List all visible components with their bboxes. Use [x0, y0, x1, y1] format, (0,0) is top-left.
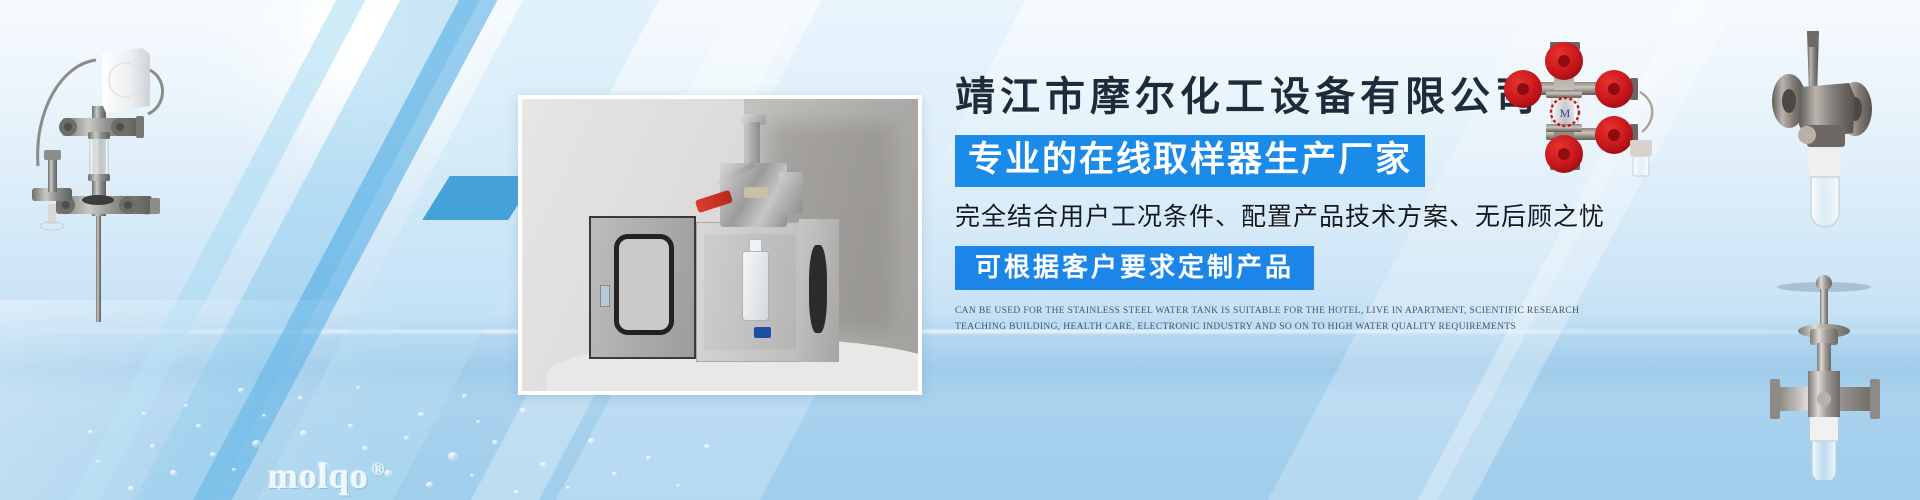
promotional-banner: 靖江市摩尔化工设备有限公司 专业的在线取样器生产厂家 完全结合用户工况条件、配置… [0, 0, 1920, 500]
photo-door-lock [600, 285, 610, 307]
red-handwheel-valve-icon: M [1490, 28, 1680, 178]
photo-door-window [614, 234, 674, 334]
water-droplet [588, 438, 595, 444]
water-droplet [252, 440, 261, 448]
photo-sample-bottle [742, 251, 770, 321]
watermark-text: molqo [268, 456, 369, 496]
english-caption: CAN BE USED FOR THE STAINLESS STEEL WATE… [955, 304, 1595, 335]
right-product-flanged-valve [1745, 25, 1900, 240]
water-droplet [300, 430, 307, 436]
right-product-red-cross-valve: M [1490, 28, 1680, 178]
svg-text:M: M [1560, 106, 1571, 120]
subline-row: 完全结合用户工况条件、配置产品技术方案、无后顾之忧 [955, 187, 1745, 232]
photo-valve-nameplate [744, 187, 768, 199]
headline-badge: 专业的在线取样器生产厂家 [955, 135, 1425, 187]
center-product-photo [518, 95, 922, 395]
right-product-lever-valve [1760, 275, 1890, 480]
photo-valve-flange [779, 172, 803, 213]
photo-cabinet-handle [809, 245, 827, 333]
water-droplet [426, 482, 433, 488]
lever-sampling-valve-icon [1760, 275, 1890, 480]
left-product-sampler-rig [10, 18, 190, 338]
registered-mark-icon: ® [372, 460, 386, 479]
watermark-logo: molqo® [268, 455, 386, 497]
photo-cabinet-door [589, 216, 696, 359]
water-droplet [448, 452, 458, 461]
pill-row: 可根据客户要求定制产品 [955, 246, 1745, 291]
flanged-sampling-valve-icon [1745, 25, 1900, 240]
custom-product-badge: 可根据客户要求定制产品 [955, 246, 1314, 291]
sampler-rig-icon [10, 18, 190, 338]
sub-headline: 完全结合用户工况条件、配置产品技术方案、无后顾之忧 [955, 203, 1605, 232]
water-droplet [170, 470, 177, 476]
photo-blue-cap [754, 327, 772, 339]
